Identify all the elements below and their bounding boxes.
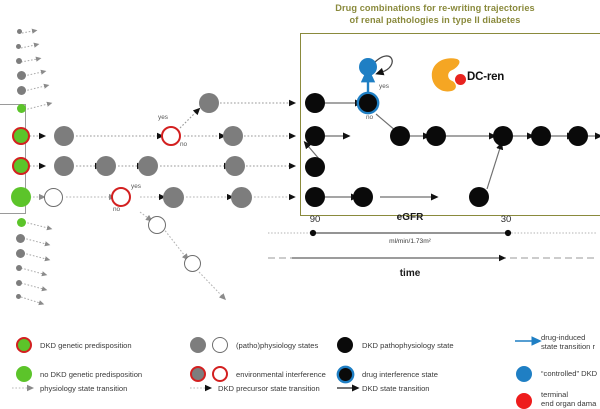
- legend-label-terminal-line2: end organ dama: [541, 400, 596, 409]
- physiology-node: [17, 86, 26, 95]
- legend-label-dkd-pathophysiology: DKD pathophysiology state: [362, 341, 454, 350]
- legend-label-environmental-interference: environmental interference: [236, 370, 326, 379]
- page-title: Drug combinations for re-writing traject…: [300, 3, 570, 26]
- environmental-interference-node: [161, 126, 181, 146]
- legend-marker-dkd-predisposition: [16, 337, 32, 353]
- physiology-node: [16, 58, 22, 64]
- legend-marker-no-predisposition: [16, 366, 32, 382]
- dkd-pathophysiology-node: [426, 126, 446, 146]
- dkd-pathophysiology-node: [353, 187, 373, 207]
- no-predisposition-node: [17, 104, 26, 113]
- controlled-dkd-node: [359, 58, 377, 76]
- title-line-2: of renal pathologies in type II diabetes: [300, 15, 570, 27]
- physiology-node: [16, 234, 25, 243]
- physiology-node: [17, 71, 26, 80]
- decision-no-label: no: [113, 206, 120, 213]
- decision-yes-label: yes: [379, 83, 389, 90]
- physiology-node: [16, 44, 21, 49]
- legend-marker-environmental-filled: [190, 366, 206, 382]
- physiology-node: [16, 265, 22, 271]
- egfr-start-value: 90: [300, 214, 330, 225]
- dkd-pathophysiology-node: [390, 126, 410, 146]
- physiology-node: [17, 29, 22, 34]
- legend-marker-controlled-dkd: [516, 366, 532, 382]
- legend-marker-pathophysiology-filled: [190, 337, 206, 353]
- legend-marker-terminal-damage: [516, 393, 532, 409]
- logo-label: DC-ren: [467, 71, 504, 83]
- pathophysiology-node: [54, 156, 74, 176]
- legend-marker-environmental-hollow: [212, 366, 228, 382]
- legend-label-pathophysiology-states: (patho)physiology states: [236, 341, 318, 350]
- dkd-pathophysiology-node: [305, 126, 325, 146]
- dkd-pathophysiology-node: [305, 93, 325, 113]
- decision-yes-label: yes: [131, 183, 141, 190]
- title-line-1: Drug combinations for re-writing traject…: [300, 3, 570, 15]
- physiology-node: [16, 294, 21, 299]
- dkd-pathophysiology-node: [531, 126, 551, 146]
- pathophysiology-node: [96, 156, 116, 176]
- physiology-state-node: [148, 216, 166, 234]
- dkd-predisposition-node: [12, 157, 30, 175]
- physiology-node: [16, 280, 22, 286]
- pathophysiology-node: [54, 126, 74, 146]
- dkd-predisposition-node: [12, 127, 30, 145]
- legend-label-drug-induced-line2: state transition r: [541, 343, 595, 352]
- legend-marker-pathophysiology-hollow: [212, 337, 228, 353]
- dkd-pathophysiology-node: [568, 126, 588, 146]
- egfr-axis-label: eGFR: [310, 212, 510, 223]
- legend-label-no-predisposition: no DKD genetic predisposition: [40, 370, 142, 379]
- logo-dot-icon: [455, 74, 466, 85]
- legend-marker-drug-interference: [339, 368, 352, 381]
- legend-label-controlled-dkd: “controlled” DKD: [541, 370, 597, 379]
- dkd-pathophysiology-node: [305, 157, 325, 177]
- dkd-pathophysiology-node: [493, 126, 513, 146]
- legend-label-dkd-transition: DKD state transition: [362, 384, 430, 393]
- legend-marker-dkd-pathophysiology: [337, 337, 353, 353]
- environmental-interference-node: [111, 187, 131, 207]
- legend-label-dkd-predisposition: DKD genetic predisposition: [40, 341, 132, 350]
- egfr-units-label: ml/min/1.73m²: [320, 238, 500, 245]
- pathophysiology-node: [231, 187, 252, 208]
- time-axis-label: time: [340, 268, 480, 279]
- egfr-end-value: 30: [491, 214, 521, 225]
- decision-no-label: no: [366, 114, 373, 121]
- pathophysiology-node: [138, 156, 158, 176]
- dc-ren-logo: DC-ren: [428, 54, 538, 98]
- decision-yes-label: yes: [158, 114, 168, 121]
- legend: DKD genetic predisposition no DKD geneti…: [0, 330, 600, 403]
- no-predisposition-node: [17, 218, 26, 227]
- pathophysiology-node: [225, 156, 245, 176]
- legend-label-drug-interference: drug interference state: [362, 370, 438, 379]
- legend-label-physiology-transition: physiology state transition: [40, 384, 127, 393]
- dkd-pathophysiology-node: [469, 187, 489, 207]
- decision-no-label: no: [180, 141, 187, 148]
- pathophysiology-node: [199, 93, 219, 113]
- physiology-node: [16, 249, 25, 258]
- physiology-state-node: [44, 188, 63, 207]
- pathophysiology-node: [163, 187, 184, 208]
- drug-interference-node: [359, 94, 377, 112]
- dkd-pathophysiology-node: [305, 187, 325, 207]
- pathophysiology-node: [223, 126, 243, 146]
- legend-label-precursor-transition: DKD precursor state transition: [218, 384, 320, 393]
- physiology-state-node: [184, 255, 201, 272]
- no-predisposition-node: [11, 187, 31, 207]
